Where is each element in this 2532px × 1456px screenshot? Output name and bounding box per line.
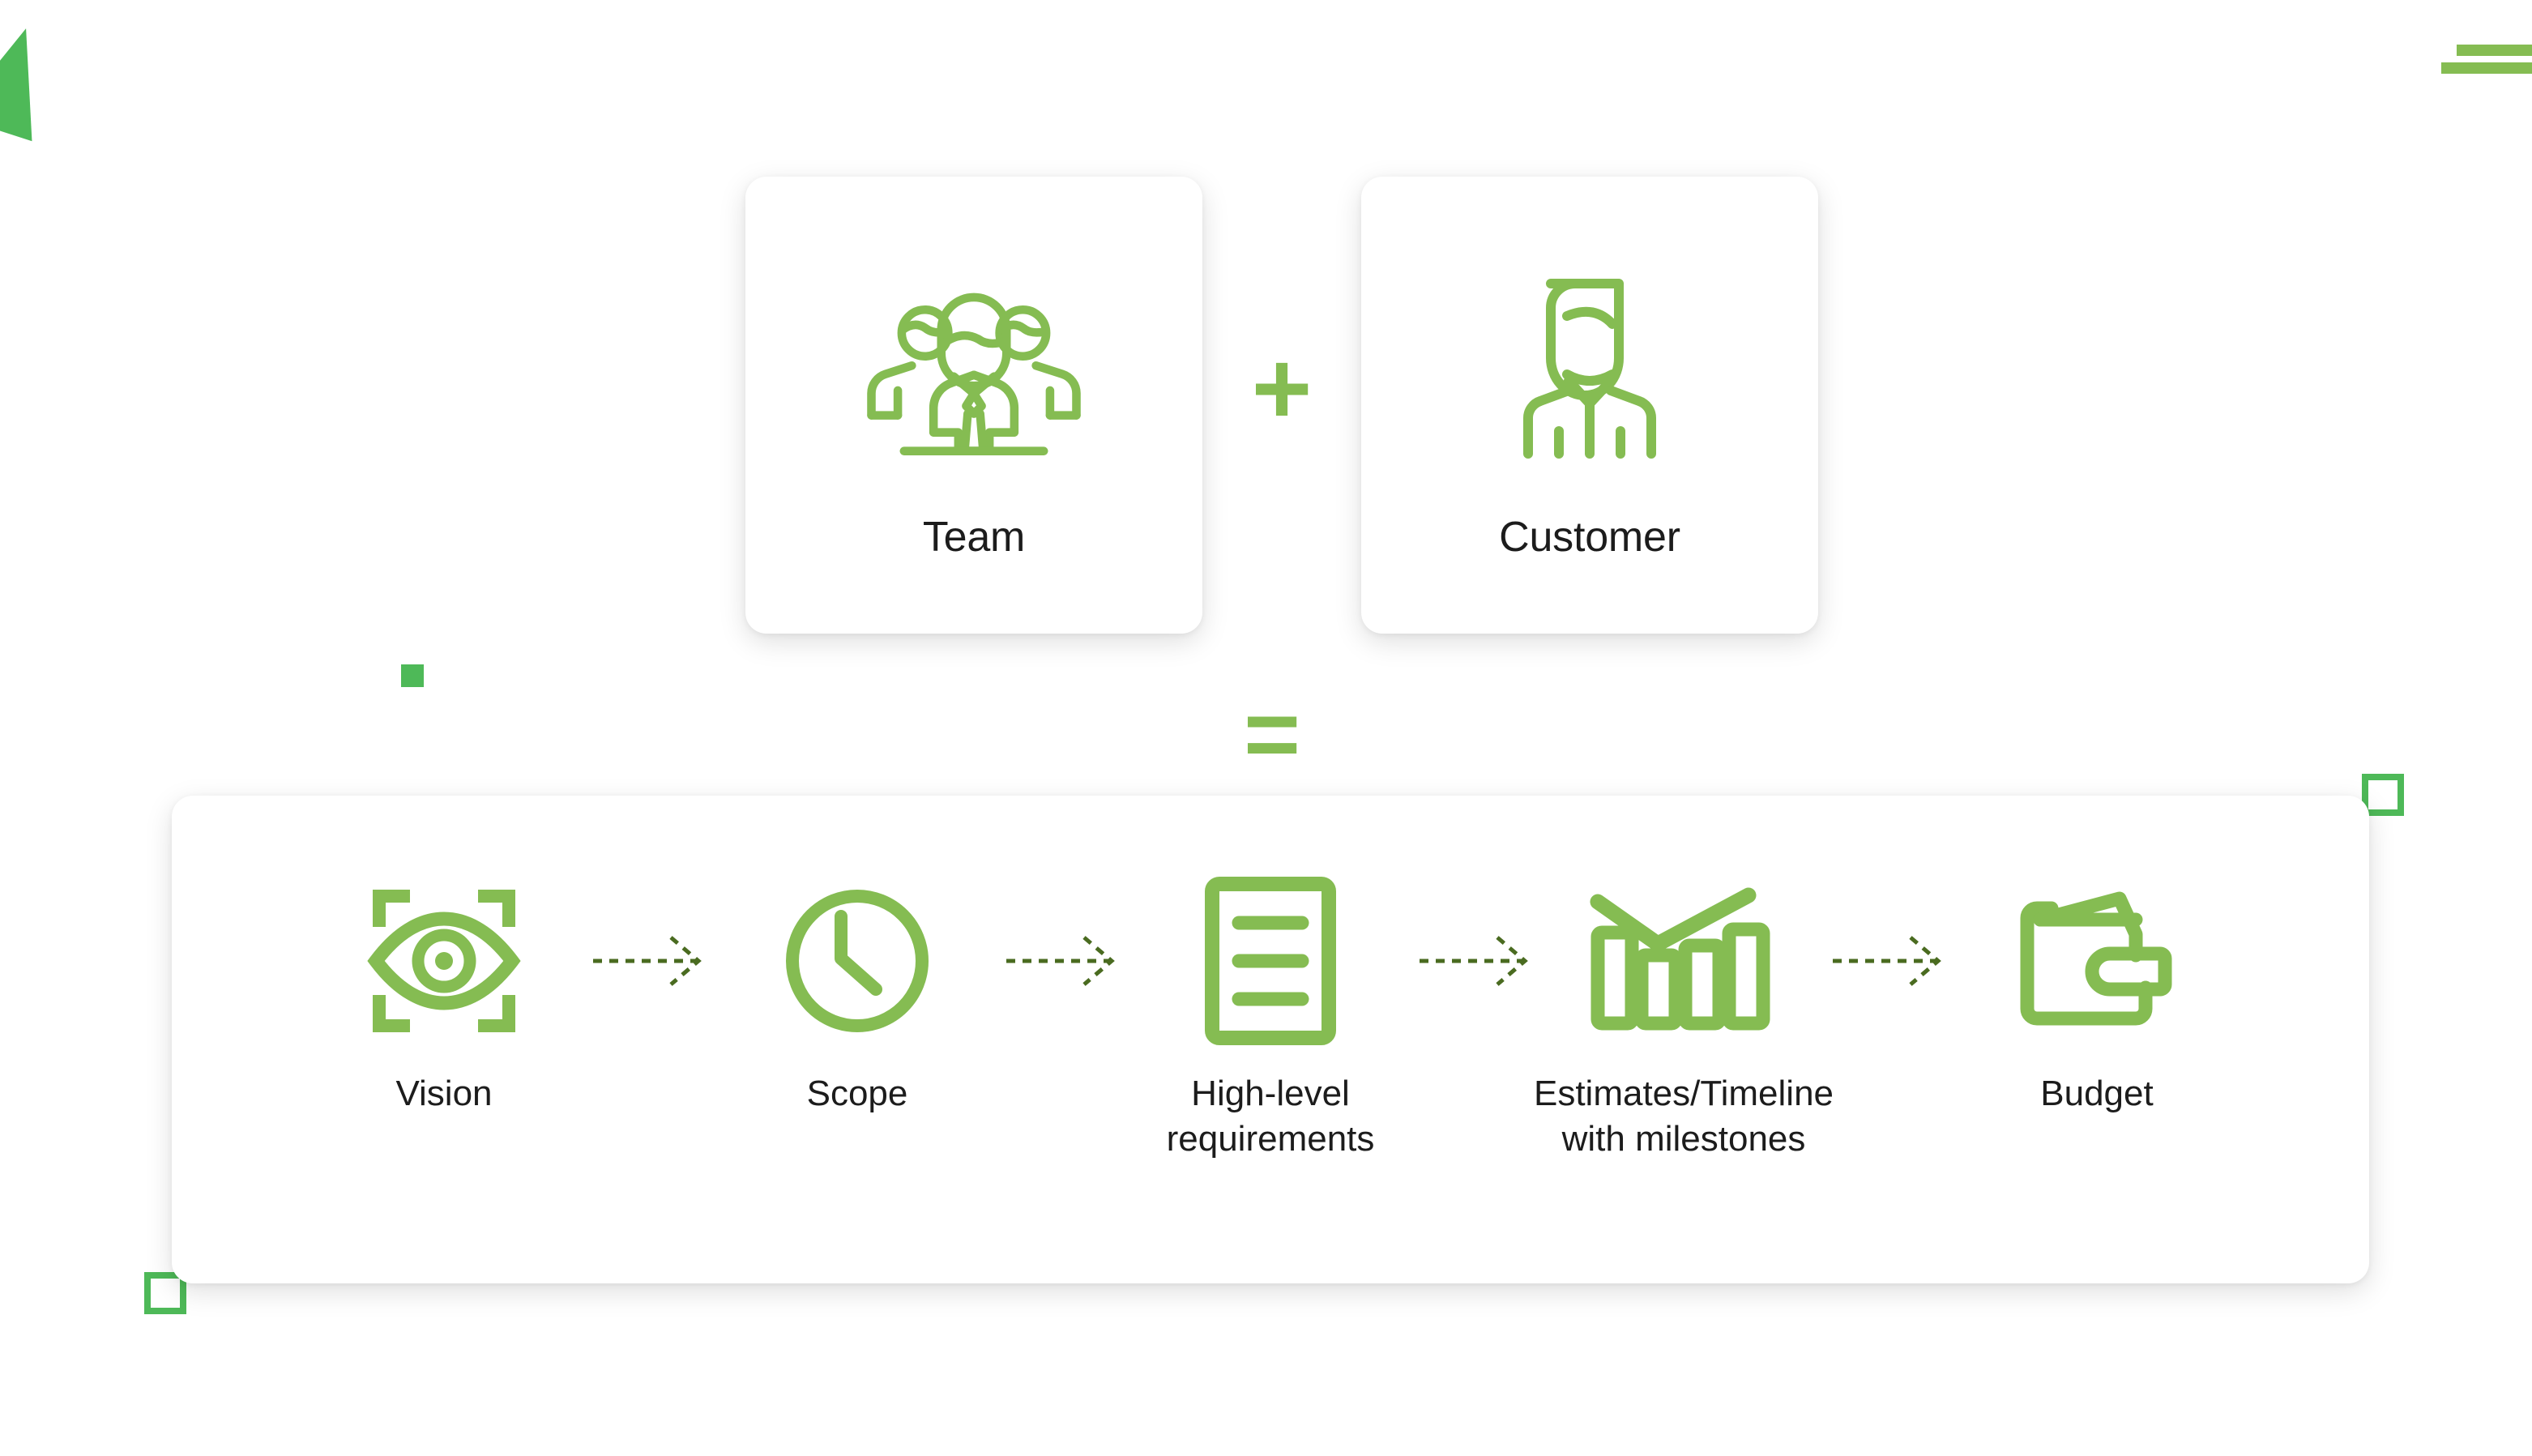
dashed-arrow-right-icon (1404, 865, 1550, 1057)
equals-operator: = (1235, 685, 1309, 783)
customer-card[interactable]: Customer (1361, 177, 1818, 634)
customer-person-icon (1501, 249, 1679, 492)
step-budget[interactable]: Budget (1963, 865, 2231, 1117)
step-vision-label: Vision (395, 1071, 492, 1117)
step-estimates-timeline-label: Estimates/Timeline with milestones (1534, 1071, 1834, 1163)
deliverables-card[interactable]: Vision Scope (172, 796, 2369, 1283)
clock-icon (780, 865, 934, 1057)
corner-triangle-decoration (0, 16, 65, 142)
team-card[interactable]: Team (745, 177, 1202, 634)
accent-bar-bottom-decoration (2441, 62, 2532, 74)
bar-chart-trend-icon (1586, 865, 1781, 1057)
step-scope[interactable]: Scope (724, 865, 991, 1117)
dashed-arrow-right-icon (1817, 865, 1963, 1057)
step-high-level-requirements-label: High-level requirements (1167, 1071, 1375, 1163)
wallet-icon (2016, 865, 2178, 1057)
customer-card-label: Customer (1499, 513, 1680, 561)
equation-operands-row: Team + (745, 177, 1818, 634)
accent-square-decoration (401, 664, 424, 687)
team-group-icon (856, 249, 1091, 492)
accent-bar-top-decoration (2457, 45, 2532, 56)
step-vision[interactable]: Vision (310, 865, 578, 1117)
step-budget-label: Budget (2040, 1071, 2153, 1117)
step-high-level-requirements[interactable]: High-level requirements (1137, 865, 1404, 1163)
step-scope-label: Scope (807, 1071, 908, 1117)
slide-canvas: Team + (0, 0, 2532, 1456)
dashed-arrow-right-icon (578, 865, 724, 1057)
document-lines-icon (1202, 865, 1339, 1057)
deliverables-step-list: Vision Scope (172, 865, 2369, 1163)
step-estimates-timeline[interactable]: Estimates/Timeline with milestones (1550, 865, 1817, 1163)
dashed-arrow-right-icon (991, 865, 1137, 1057)
team-card-label: Team (923, 513, 1025, 561)
plus-operator: + (1202, 337, 1361, 441)
eye-focus-icon (363, 865, 525, 1057)
